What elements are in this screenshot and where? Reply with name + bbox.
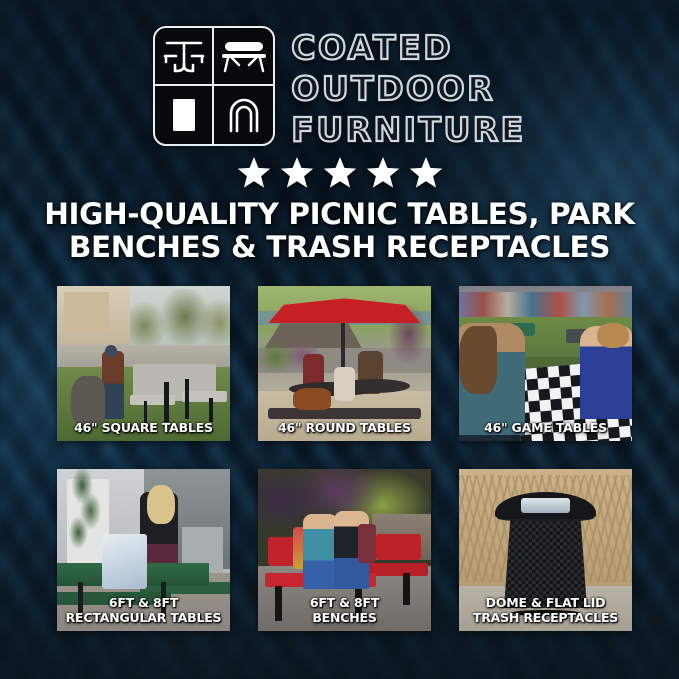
product-photo: [258, 286, 431, 441]
product-tile-caption: 46" SQUARE TABLES: [57, 421, 230, 436]
trash-receptacle-icon: [155, 86, 214, 144]
headline-line-2: BENCHES & TRASH RECEPTACLES: [26, 231, 653, 264]
picnic-table-icon: [155, 28, 214, 86]
caption-line-2: TRASH RECEPTACLES: [462, 611, 629, 626]
star-icon: [409, 156, 443, 189]
caption-line-2: RECTANGULAR TABLES: [60, 611, 227, 626]
caption-line-1: 46" SQUARE TABLES: [60, 421, 227, 436]
caption-line-1: 46" GAME TABLES: [462, 421, 629, 436]
star-icon: [323, 156, 357, 189]
headline-line-1: HIGH-QUALITY PICNIC TABLES, PARK: [26, 198, 653, 231]
headline: HIGH-QUALITY PICNIC TABLES, PARK BENCHES…: [0, 198, 679, 264]
product-tile-rectangular-tables[interactable]: 6FT & 8FT RECTANGULAR TABLES: [57, 469, 230, 631]
product-tile-caption: 46" GAME TABLES: [459, 421, 632, 436]
star-icon: [280, 156, 314, 189]
product-tile-round-tables[interactable]: 46" ROUND TABLES: [258, 286, 431, 441]
caption-line-1: 6FT & 8FT: [261, 596, 428, 611]
product-photo: [57, 286, 230, 441]
caption-line-2: BENCHES: [261, 611, 428, 626]
caption-line-1: DOME & FLAT LID: [462, 596, 629, 611]
caption-line-1: 6FT & 8FT: [60, 596, 227, 611]
caption-line-1: 46" ROUND TABLES: [261, 421, 428, 436]
product-tile-caption: 6FT & 8FT RECTANGULAR TABLES: [57, 596, 230, 625]
product-tile-trash-receptacles[interactable]: DOME & FLAT LID TRASH RECEPTACLES: [459, 469, 632, 631]
logo-word-coated: COATED: [291, 28, 525, 68]
bike-rack-icon: [214, 86, 273, 144]
logo-icon-grid: [153, 26, 275, 146]
logo-word-furniture: FURNITURE: [291, 110, 525, 150]
product-tile-game-tables[interactable]: 46" GAME TABLES: [459, 286, 632, 441]
star-icon: [237, 156, 271, 189]
logo-wordmark: COATED OUTDOOR FURNITURE: [291, 26, 525, 150]
product-tile-caption: 46" ROUND TABLES: [258, 421, 431, 436]
star-icon: [366, 156, 400, 189]
product-tile-grid: 46" SQUARE TABLES: [57, 286, 623, 631]
star-rating: [0, 156, 679, 189]
product-tile-benches[interactable]: 6FT & 8FT BENCHES: [258, 469, 431, 631]
product-tile-caption: DOME & FLAT LID TRASH RECEPTACLES: [459, 596, 632, 625]
park-bench-icon: [214, 28, 273, 86]
product-tile-square-tables[interactable]: 46" SQUARE TABLES: [57, 286, 230, 441]
logo-word-outdoor: OUTDOOR: [291, 69, 525, 109]
product-photo: [459, 286, 632, 441]
brand-logo: COATED OUTDOOR FURNITURE: [0, 26, 679, 150]
product-tile-caption: 6FT & 8FT BENCHES: [258, 596, 431, 625]
promo-banner: COATED OUTDOOR FURNITURE HIGH-QUALITY PI…: [0, 0, 679, 679]
